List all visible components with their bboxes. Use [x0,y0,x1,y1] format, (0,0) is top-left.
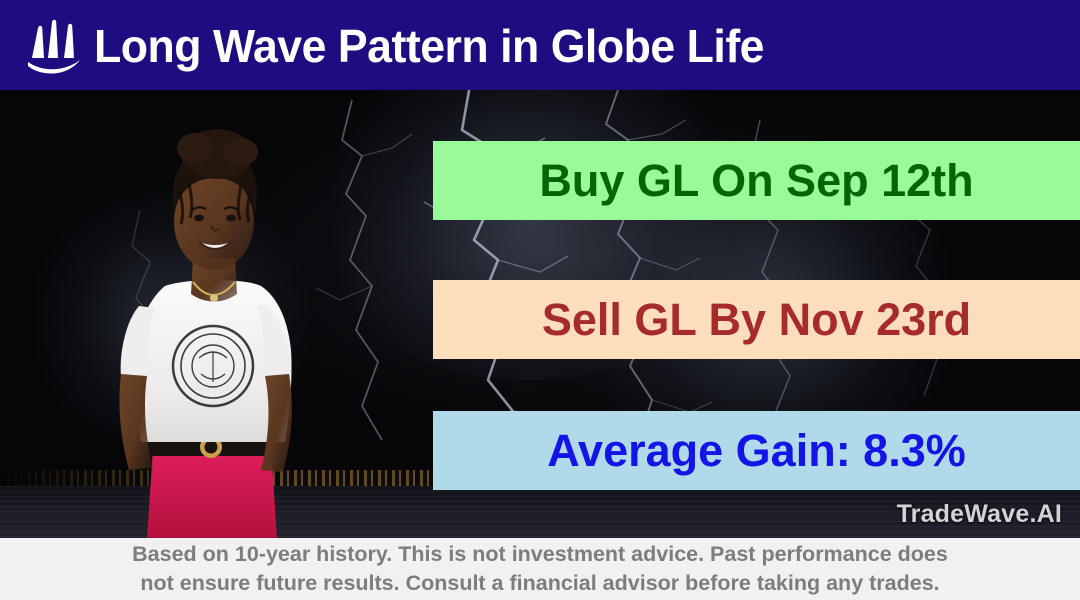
disclaimer-line-2: not ensure future results. Consult a fin… [0,569,1080,598]
header-bar: Long Wave Pattern in Globe Life [0,0,1080,90]
disclaimer-line-1: Based on 10-year history. This is not in… [0,540,1080,569]
average-gain-banner: Average Gain: 8.3% [433,411,1080,490]
disclaimer-footer: Based on 10-year history. This is not in… [0,538,1080,600]
person-photo [95,118,345,538]
buy-signal-banner: Buy GL On Sep 12th [433,141,1080,220]
pants [147,448,277,538]
average-gain-text: Average Gain: 8.3% [547,425,966,477]
trade-wave-logo-icon [22,16,86,74]
poster: Long Wave Pattern in Globe Life Buy GL O… [0,0,1080,600]
eye [226,215,236,222]
eye [194,215,204,222]
brand-watermark: TradeWave.AI [897,500,1062,529]
buy-signal-text: Buy GL On Sep 12th [539,155,973,207]
sell-signal-text: Sell GL By Nov 23rd [542,294,971,346]
sell-signal-banner: Sell GL By Nov 23rd [433,280,1080,359]
page-title: Long Wave Pattern in Globe Life [94,23,764,69]
